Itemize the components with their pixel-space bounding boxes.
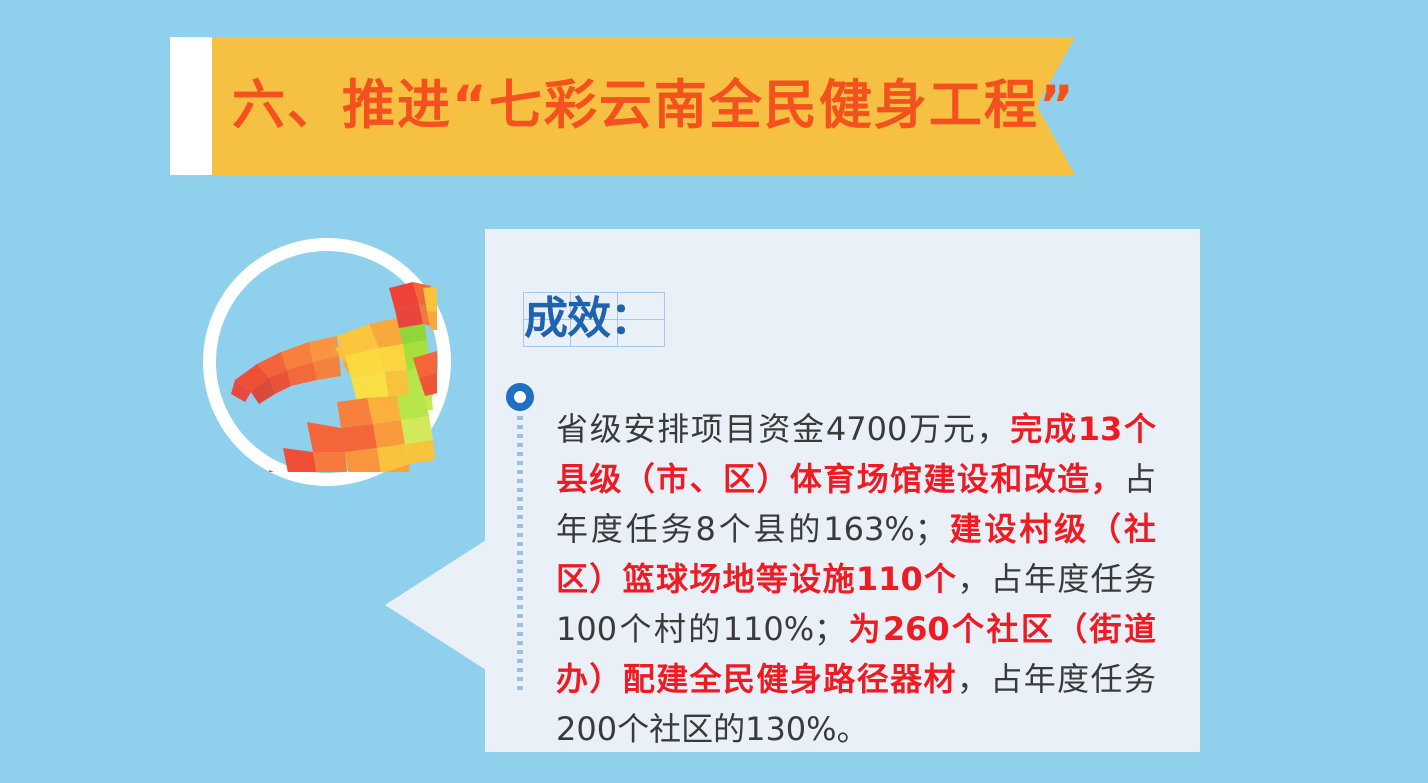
banner-left-tab: [170, 37, 212, 175]
runner-badge: [203, 238, 451, 486]
title-banner: 六、推进“七彩云南全民健身工程”: [170, 37, 1075, 175]
section-heading: 成效：: [524, 288, 674, 350]
body-segment-0: 省级安排项目资金4700万元，: [556, 410, 1010, 448]
bullet-core: [514, 391, 526, 403]
bullet-marker-icon: [506, 383, 534, 411]
speech-bubble-tail: [385, 540, 486, 670]
body-paragraph: 省级安排项目资金4700万元，完成13个县级（市、区）体育场馆建设和改造，占年度…: [556, 404, 1156, 754]
page-title: 六、推进“七彩云南全民健身工程”: [232, 37, 1076, 175]
low-poly-runner-illustration: [217, 252, 437, 472]
dotted-connector: [517, 416, 523, 690]
